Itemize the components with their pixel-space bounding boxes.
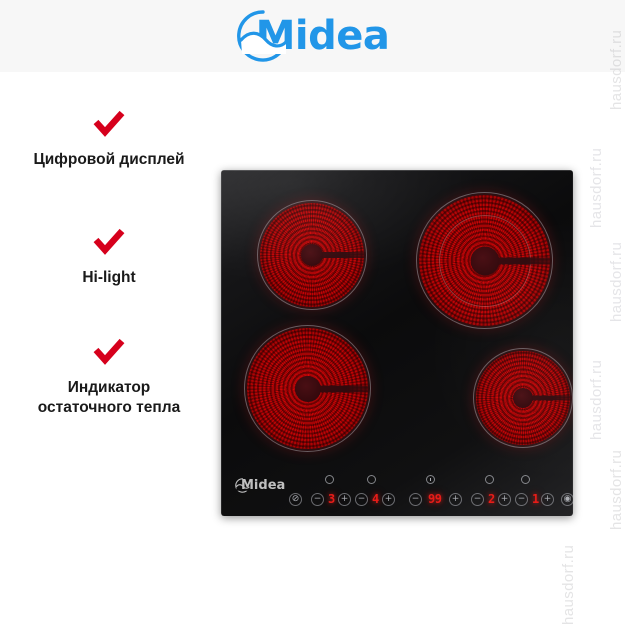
red-check-icon (92, 228, 126, 256)
minus-icon: − (412, 495, 420, 504)
indicator-rear-right (521, 475, 530, 484)
watermark: hausdorf.ru (608, 450, 625, 530)
feature-label: Индикатор остаточного тепла (0, 378, 218, 418)
zone3-minus-button[interactable]: − (471, 493, 484, 506)
midea-logo: Midea (236, 9, 390, 63)
heat-indicator-row (289, 474, 565, 488)
plus-icon: + (385, 495, 393, 504)
panel-brand-wordmark: Midea (241, 479, 285, 492)
feature-list: Цифровой дисплей Hi-light Индикатор оста… (0, 110, 218, 445)
plus-icon: + (501, 495, 509, 504)
zone3-plus-button[interactable]: + (498, 493, 511, 506)
minus-icon: − (518, 495, 526, 504)
plus-icon: + (452, 495, 460, 504)
burner-outline-ring (244, 325, 371, 452)
dual-ring-icon: ◉ (564, 495, 572, 504)
feature-label: Цифровой дисплей (0, 150, 218, 170)
feature-item-residual-heat: Индикатор остаточного тепла (0, 338, 218, 418)
burner-outline-ring (257, 200, 367, 310)
watermark: hausdorf.ru (588, 148, 605, 228)
cooktop-surface: Midea ⊘ − 3 + (221, 170, 573, 516)
zone4-display: 1 (532, 493, 539, 506)
zone3-display: 2 (488, 493, 495, 506)
minus-icon: − (474, 495, 482, 504)
indicator-rear-left (325, 475, 334, 484)
burner-outline-ring (416, 192, 553, 329)
zone2-minus-button[interactable]: − (355, 493, 368, 506)
zone4-plus-button[interactable]: + (541, 493, 554, 506)
dual-zone-button[interactable]: ◉ (561, 493, 573, 506)
zone1-minus-button[interactable]: − (311, 493, 324, 506)
indicator-front-left (367, 475, 376, 484)
plus-icon: + (544, 495, 552, 504)
minus-icon: − (358, 495, 366, 504)
indicator-front-right (485, 475, 494, 484)
red-check-icon (92, 110, 126, 138)
timer-display: 99 (428, 493, 441, 506)
watermark: hausdorf.ru (588, 360, 605, 440)
zone2-display: 4 (372, 493, 379, 506)
key-lock-icon: ⊘ (292, 495, 300, 504)
burner-front-right[interactable] (473, 348, 573, 448)
touch-button-row: ⊘ − 3 + − 4 + − 99 (289, 491, 565, 511)
burner-outline-ring (473, 348, 573, 448)
feature-item-hi-light: Hi-light (0, 228, 218, 288)
touch-control-row: ⊘ − 3 + − 4 + − 99 (289, 474, 565, 512)
indicator-timer (426, 475, 435, 484)
zone1-display: 3 (328, 493, 335, 506)
feature-label: Hi-light (0, 268, 218, 288)
watermark: hausdorf.ru (608, 242, 625, 322)
zone2-plus-button[interactable]: + (382, 493, 395, 506)
zone1-plus-button[interactable]: + (338, 493, 351, 506)
red-check-icon (92, 338, 126, 366)
timer-plus-button[interactable]: + (449, 493, 462, 506)
midea-swoosh-icon (236, 9, 290, 63)
plus-icon: + (341, 495, 349, 504)
lock-button[interactable]: ⊘ (289, 493, 302, 506)
burner-front-left[interactable] (244, 325, 371, 452)
control-panel: Midea ⊘ − 3 + (221, 454, 573, 516)
burner-rear-right[interactable] (416, 192, 553, 329)
header-bar: Midea (0, 0, 625, 72)
timer-minus-button[interactable]: − (409, 493, 422, 506)
burner-rear-left[interactable] (257, 200, 367, 310)
panel-midea-logo: Midea (235, 478, 285, 493)
zone4-minus-button[interactable]: − (515, 493, 528, 506)
watermark: hausdorf.ru (560, 545, 577, 625)
feature-item-digital-display: Цифровой дисплей (0, 110, 218, 170)
minus-icon: − (314, 495, 322, 504)
